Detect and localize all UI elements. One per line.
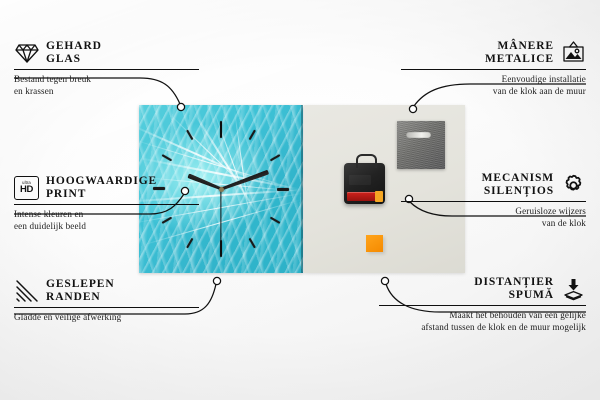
feature-desc-line1: Maakt het behouden van een gelijke (449, 310, 586, 320)
feature-header: GESLEPEN RANDEN (14, 278, 199, 304)
metal-hanger-plate (397, 121, 445, 169)
mechanism-hanging-loop (356, 154, 377, 168)
feature-header: ultra HD HOOGWAARDIGE PRINT (14, 175, 199, 201)
feature-hoogwaardige-print: ultra HD HOOGWAARDIGE PRINT Intense kleu… (14, 175, 199, 232)
feature-manere-metalice: MÂNERE METALICE Eenvoudige installatie v… (401, 40, 586, 97)
clock-mechanism (344, 163, 385, 204)
feature-desc-line2: en krassen (14, 86, 54, 96)
feature-title-line1: HOOGWAARDIGE (46, 175, 157, 187)
feature-desc-line2: van de klok aan de muur (493, 86, 586, 96)
feature-desc-line2: een duidelijk beeld (14, 221, 86, 231)
feature-title-line1: MÂNERE (497, 40, 554, 52)
gear-icon (561, 173, 586, 198)
feature-title-line2: SPUMĂ (509, 289, 554, 301)
spacer-pad-icon (561, 277, 586, 302)
feature-title-line2: PRINT (46, 188, 86, 200)
feature-title-line1: DISTANȚIER (474, 276, 554, 288)
feature-desc-line1: Bestand tegen breuk (14, 74, 91, 84)
feature-title-line2: SILENȚIOS (484, 185, 554, 197)
infographic-canvas: GEHARD GLAS Bestand tegen breuk en krass… (0, 0, 600, 400)
diamond-icon (14, 41, 39, 66)
feature-header: GEHARD GLAS (14, 40, 199, 66)
feature-geslepen-randen: GESLEPEN RANDEN Gladde en veilige afwerk… (14, 278, 199, 324)
wall-mount-picture-icon (561, 41, 586, 66)
feature-desc-line2: van de klok (542, 218, 586, 228)
feature-title-line1: GEHARD (46, 40, 102, 52)
foam-spacer (366, 235, 383, 252)
clock-center-pivot (219, 187, 224, 192)
feature-header: DISTANȚIER SPUMĂ (379, 276, 586, 302)
feature-title-line2: GLAS (46, 53, 81, 65)
feature-title-line1: MECANISM (482, 172, 554, 184)
feature-header: MÂNERE METALICE (401, 40, 586, 66)
feature-desc-line1: Gladde en veilige afwerking (14, 312, 121, 322)
feature-rule (14, 204, 199, 205)
feature-mecanism-silentios: MECANISM SILENȚIOS Geruisloze wijzers va… (401, 172, 586, 229)
feature-desc-line1: Geruisloze wijzers (515, 206, 586, 216)
feature-rule (14, 69, 199, 70)
hanger-slot (406, 132, 431, 138)
feature-gehard-glas: GEHARD GLAS Bestand tegen breuk en krass… (14, 40, 199, 97)
feature-title-line1: GESLEPEN (46, 278, 115, 290)
ultra-hd-icon: ultra HD (14, 176, 39, 201)
mechanism-detail (349, 175, 371, 185)
feature-header: MECANISM SILENȚIOS (401, 172, 586, 198)
hour-mark (220, 119, 222, 189)
hour-mark (221, 188, 291, 190)
feature-title-line2: METALICE (485, 53, 554, 65)
feature-rule (379, 305, 586, 306)
bevelled-edges-icon (14, 279, 39, 304)
feature-desc-line2: afstand tussen de klok en de muur mogeli… (421, 322, 586, 332)
feature-rule (14, 307, 199, 308)
battery (347, 192, 382, 201)
feature-distantier-spuma: DISTANȚIER SPUMĂ Maakt het behouden van … (379, 276, 586, 333)
feature-title-line2: RANDEN (46, 291, 101, 303)
feature-desc-line1: Intense kleuren en (14, 209, 83, 219)
feature-rule (401, 69, 586, 70)
feature-desc-line1: Eenvoudige installatie (502, 74, 586, 84)
feature-rule (401, 201, 586, 202)
ultra-hd-large-label: HD (20, 185, 33, 195)
